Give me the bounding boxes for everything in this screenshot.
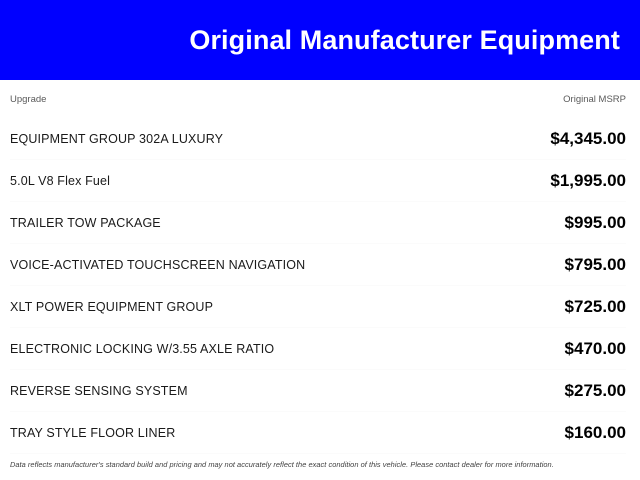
row-upgrade-label: REVERSE SENSING SYSTEM [10, 384, 200, 398]
row-msrp-value: $1,995.00 [550, 171, 626, 191]
row-upgrade-label: TRAY STYLE FLOOR LINER [10, 426, 187, 440]
page-title: Original Manufacturer Equipment [189, 27, 620, 54]
table-row: TRAILER TOW PACKAGE$995.00 [10, 202, 626, 244]
column-header-original-msrp: Original MSRP [563, 94, 626, 105]
row-msrp-value: $725.00 [565, 297, 626, 317]
table-row: ELECTRONIC LOCKING W/3.55 AXLE RATIO$470… [10, 328, 626, 370]
row-msrp-value: $470.00 [565, 339, 626, 359]
row-msrp-value: $4,345.00 [550, 129, 626, 149]
row-upgrade-label: 5.0L V8 Flex Fuel [10, 174, 122, 188]
row-msrp-value: $160.00 [565, 423, 626, 443]
table-row: XLT POWER EQUIPMENT GROUP$725.00 [10, 286, 626, 328]
disclaimer-text: Data reflects manufacturer's standard bu… [0, 454, 640, 470]
equipment-table: Upgrade Original MSRP EQUIPMENT GROUP 30… [0, 80, 640, 454]
page-header-banner: Original Manufacturer Equipment [0, 0, 640, 80]
row-upgrade-label: TRAILER TOW PACKAGE [10, 216, 173, 230]
row-upgrade-label: XLT POWER EQUIPMENT GROUP [10, 300, 225, 314]
table-column-headers: Upgrade Original MSRP [10, 80, 626, 118]
table-row: REVERSE SENSING SYSTEM$275.00 [10, 370, 626, 412]
row-upgrade-label: VOICE-ACTIVATED TOUCHSCREEN NAVIGATION [10, 258, 317, 272]
table-row: EQUIPMENT GROUP 302A LUXURY$4,345.00 [10, 118, 626, 160]
table-row: 5.0L V8 Flex Fuel$1,995.00 [10, 160, 626, 202]
table-row: VOICE-ACTIVATED TOUCHSCREEN NAVIGATION$7… [10, 244, 626, 286]
table-body: EQUIPMENT GROUP 302A LUXURY$4,345.005.0L… [10, 118, 626, 454]
row-msrp-value: $275.00 [565, 381, 626, 401]
table-row: TRAY STYLE FLOOR LINER$160.00 [10, 412, 626, 454]
column-header-upgrade: Upgrade [10, 94, 46, 105]
row-upgrade-label: ELECTRONIC LOCKING W/3.55 AXLE RATIO [10, 342, 286, 356]
row-msrp-value: $795.00 [565, 255, 626, 275]
equipment-page: Original Manufacturer Equipment Upgrade … [0, 0, 640, 480]
row-msrp-value: $995.00 [565, 213, 626, 233]
row-upgrade-label: EQUIPMENT GROUP 302A LUXURY [10, 132, 235, 146]
